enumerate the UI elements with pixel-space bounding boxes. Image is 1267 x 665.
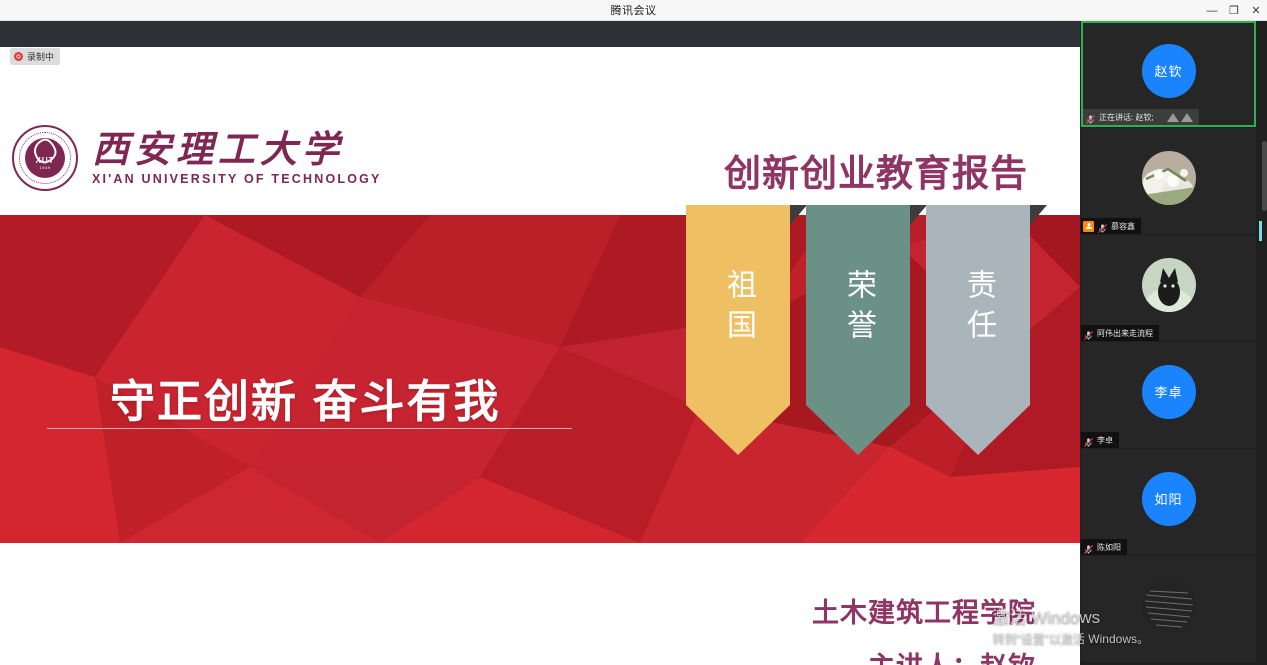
mic-muted-icon [1097,221,1108,232]
participant-tile-awei[interactable]: 阿伟出来走流程 [1081,235,1256,341]
university-name-cn: 西安理工大学 [92,131,382,168]
report-title: 创新创业教育报告 [724,143,1028,197]
slogan-divider [47,428,572,429]
participant-tile-lizhuo[interactable]: 李卓 李卓 [1081,342,1256,448]
recording-label: 录制中 [27,50,54,63]
university-seal-icon: XUT 1949 [12,125,78,191]
seal-core: XUT 1949 [25,138,65,178]
window-controls: — ❐ ✕ [1201,0,1267,21]
participant-status-bar: 陈如阳 [1081,539,1127,555]
speaking-wave-icon [1167,113,1193,122]
speaker-name: 主讲人：赵钦 [868,645,1036,665]
participant-filmstrip[interactable]: 赵钦 正在讲话: 赵钦; 慕容鑫 [1080,21,1267,665]
banner-label: 责任 [956,269,1000,349]
banner-zuguo: 祖国 [686,205,790,455]
restore-button[interactable]: ❐ [1223,0,1245,21]
banner-fold-icon [910,205,927,225]
avatar [1142,258,1196,312]
mic-muted-icon [1083,435,1094,446]
banner-label: 祖国 [716,269,760,349]
recording-dot-icon [14,52,23,61]
mic-muted-icon [1083,542,1094,553]
mic-muted-icon [1085,112,1096,123]
participant-status-label: 陈如阳 [1097,542,1121,553]
recording-badge: 录制中 [10,48,60,65]
filmstrip-indicator [1259,221,1262,241]
window-title: 腾讯会议 [611,2,657,18]
banner-rongyu: 荣誉 [806,205,910,455]
participant-status-label: 正在讲话: 赵钦; [1099,112,1154,123]
tencent-meeting-window: 腾讯会议 — ❐ ✕ 录制中 [0,0,1267,665]
participant-status-bar: 李卓 [1081,432,1119,448]
university-name-block: 西安理工大学 XI'AN UNIVERSITY OF TECHNOLOGY [92,131,382,186]
shared-screen-topbar [0,21,1080,47]
avatar [1142,151,1196,205]
filmstrip-scrollbar-thumb[interactable] [1262,141,1267,211]
banner-fold-icon [790,205,807,225]
avatar: 赵钦 [1142,44,1196,98]
participant-status-label: 阿伟出来走流程 [1097,328,1153,339]
minimize-button[interactable]: — [1201,0,1223,21]
avatar: 如阳 [1142,472,1196,526]
banner-body: 责任 [926,205,1030,455]
mic-muted-icon [1083,328,1094,339]
filmstrip-scrollbar[interactable] [1262,21,1267,665]
shared-screen-slide: XUT 1949 西安理工大学 XI'AN UNIVERSITY OF TECH… [0,47,1080,665]
banner-zeren: 责任 [926,205,1030,455]
participant-tile-partial[interactable] [1081,556,1256,662]
close-button[interactable]: ✕ [1245,0,1267,21]
participant-tile-murongxin[interactable]: 慕容鑫 [1081,128,1256,234]
banner-body: 祖国 [686,205,790,455]
seal-swoosh-icon [31,136,59,166]
avatar: 李卓 [1142,365,1196,419]
banner-label: 荣誉 [836,269,880,349]
participant-status-label: 李卓 [1097,435,1113,446]
participant-status-label: 慕容鑫 [1111,221,1135,232]
university-name-en: XI'AN UNIVERSITY OF TECHNOLOGY [92,172,382,186]
department-name: 土木建筑工程学院 [812,591,1036,630]
slide-slogan: 守正创新 奋斗有我 [110,365,501,430]
participant-tile-zhaoqin[interactable]: 赵钦 正在讲话: 赵钦; [1081,21,1256,127]
participant-status-bar: 阿伟出来走流程 [1081,325,1159,341]
university-logo: XUT 1949 西安理工大学 XI'AN UNIVERSITY OF TECH… [12,125,382,191]
avatar [1142,579,1196,633]
participant-status-bar: 慕容鑫 [1081,218,1141,234]
participant-status-bar: 正在讲话: 赵钦; [1083,109,1199,125]
host-badge-icon [1083,221,1094,232]
banner-group: 祖国 荣誉 责任 [686,205,1030,455]
window-titlebar: 腾讯会议 — ❐ ✕ [0,0,1267,21]
banner-body: 荣誉 [806,205,910,455]
participant-tile-chenruyang[interactable]: 如阳 陈如阳 [1081,449,1256,555]
seal-year: 1949 [40,165,51,170]
